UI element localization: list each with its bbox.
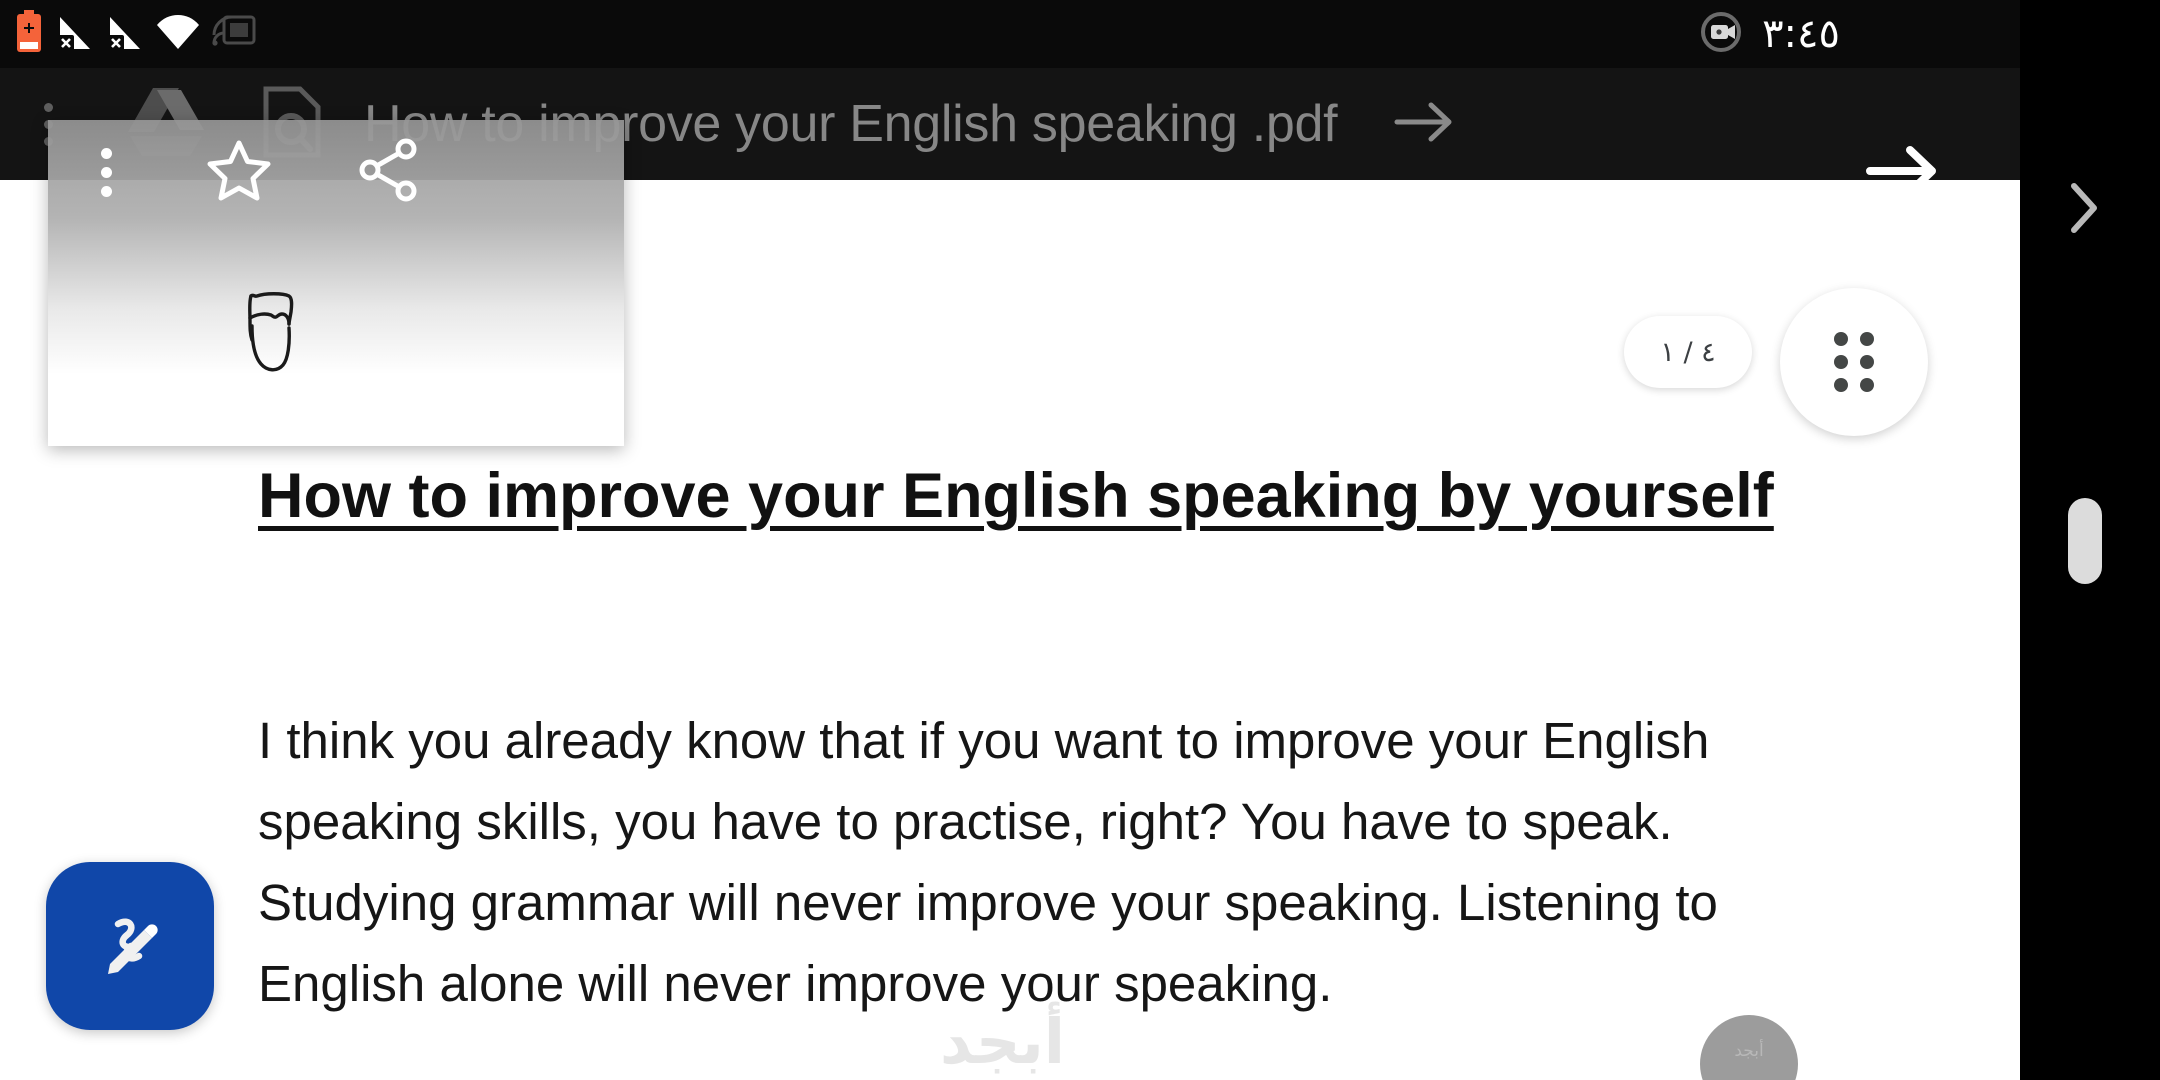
forward-arrow-icon [1393,97,1459,152]
more-options-icon [101,148,112,197]
thumbnail-overlay-panel[interactable] [48,120,624,446]
no-signal-sim2-icon [106,11,144,58]
status-bar-clock: ٣:٤٥ [1762,11,1840,57]
share-icon [358,138,420,207]
status-bar-left-icons [0,10,256,59]
wifi-icon [156,13,200,56]
forward-arrow-icon [1864,140,1944,207]
overlay-share-button[interactable] [314,138,464,207]
pdf-heading: How to improve your English speaking by … [258,460,1938,532]
hand-drawn-sketch [243,288,353,403]
page-grid-button[interactable] [1780,288,1928,436]
expand-chevron-button[interactable] [2062,178,2106,243]
status-bar-right: ٣:٤٥ [1698,9,2020,60]
battery-low-icon [14,10,44,59]
toolbar-forward-button[interactable] [1393,97,1459,152]
page-grid-icon [1834,332,1874,392]
page-watermark-badge-label: أبجد [1700,1041,1798,1061]
cast-icon [212,13,256,56]
page-indicator-label: ٤ / ١ [1660,337,1715,368]
overlay-star-button[interactable] [164,139,314,206]
vertical-scrollbar-thumb[interactable] [2068,498,2102,584]
page-indicator[interactable]: ٤ / ١ [1624,316,1752,388]
phone-screen: ٣:٤٥ [0,0,2160,1080]
star-bookmark-icon [207,139,271,206]
pdf-paragraph: I think you already know that if you wan… [258,700,1868,1024]
status-bar: ٣:٤٥ [0,0,2020,68]
overlay-more-options-button[interactable] [48,148,164,197]
no-signal-sim1-icon [56,11,94,58]
annotate-button[interactable] [46,862,214,1030]
annotate-pen-icon [90,904,170,989]
overlay-forward-arrow-button[interactable] [1864,140,1944,207]
overlay-action-row [48,120,624,224]
chevron-right-icon [2062,178,2106,243]
right-side-rail [2020,0,2160,1080]
screen-recording-icon [1698,9,1744,60]
